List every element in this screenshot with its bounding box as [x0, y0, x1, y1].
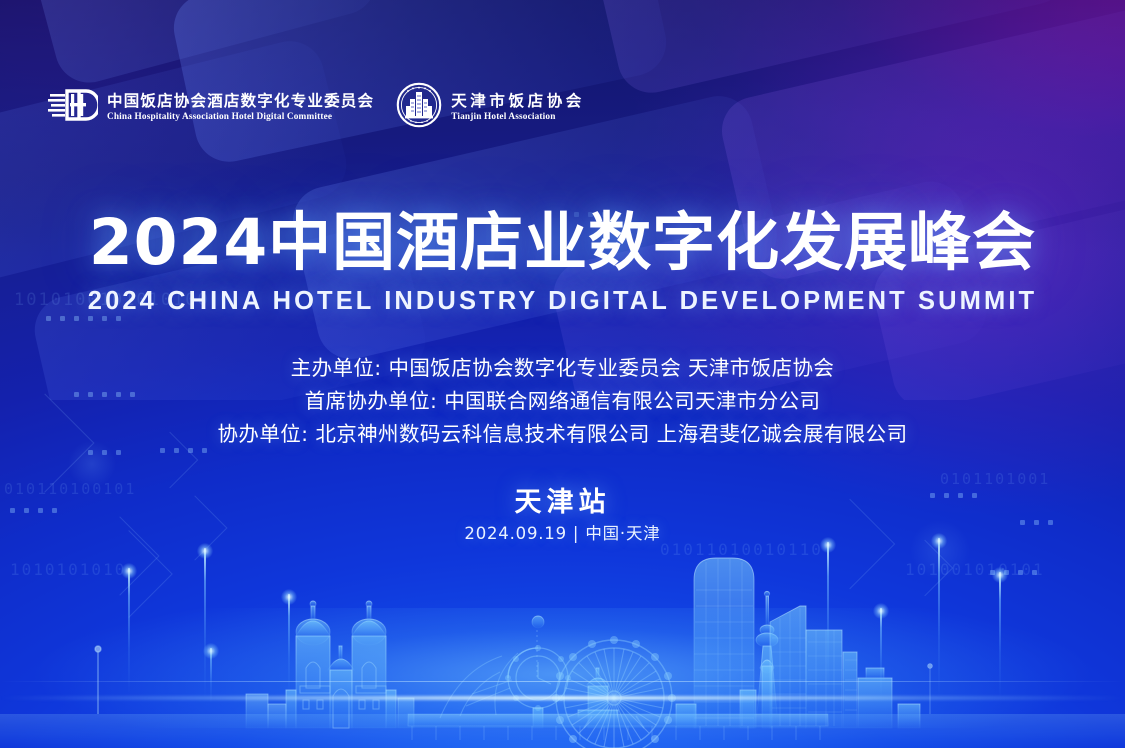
horizon-line-secondary: [0, 681, 1125, 682]
page-title-cn: 2024中国酒店业数字化发展峰会: [0, 206, 1125, 280]
page-title-en: 2024 CHINA HOTEL INDUSTRY DIGITAL DEVELO…: [0, 286, 1125, 316]
logo-cha-name-cn: 中国饭店协会酒店数字化专业委员会: [107, 92, 374, 111]
conference-poster: 1010100101010100 010110100101 1010101010…: [0, 0, 1125, 748]
logo-tha-name-cn: 天津市饭店协会: [451, 92, 585, 111]
tianjin-hotel-association-seal-icon: [396, 82, 442, 133]
dot-row-1: [46, 316, 121, 321]
background-geometric-plates: [0, 0, 1125, 400]
logo-tianjin-hotel-association: 天津市饭店协会 Tianjin Hotel Association: [396, 82, 585, 133]
station-date-location: 2024.09.19 | 中国·天津: [0, 523, 1125, 545]
organizer-line-host: 主办单位: 中国饭店协会数字化专业委员会 天津市饭店协会: [0, 352, 1125, 385]
station-block: 天津站 2024.09.19 | 中国·天津: [0, 486, 1125, 545]
logo-text-block: 中国饭店协会酒店数字化专业委员会 China Hospitality Assoc…: [107, 92, 374, 123]
cha-hotel-digital-committee-logo-icon: [48, 85, 98, 130]
horizon-glow-wide: [0, 608, 1125, 728]
organizers-block: 主办单位: 中国饭店协会数字化专业委员会 天津市饭店协会 首席协办单位: 中国联…: [0, 352, 1125, 451]
logo-cha-digital-committee: 中国饭店协会酒店数字化专业委员会 China Hospitality Assoc…: [48, 85, 374, 130]
title-block: 2024中国酒店业数字化发展峰会 2024 CHINA HOTEL INDUST…: [0, 206, 1125, 316]
logo-row: 中国饭店协会酒店数字化专业委员会 China Hospitality Assoc…: [48, 82, 585, 133]
horizon-glow-line: [0, 696, 1125, 700]
organizer-line-coorganizer: 协办单位: 北京神州数码云科信息技术有限公司 上海君斐亿诚会展有限公司: [0, 418, 1125, 451]
logo-tha-name-en: Tianjin Hotel Association: [451, 111, 585, 123]
logo-cha-name-en: China Hospitality Association Hotel Digi…: [107, 111, 374, 123]
logo-text-block: 天津市饭店协会 Tianjin Hotel Association: [451, 92, 585, 123]
station-name: 天津站: [0, 486, 1125, 520]
organizer-line-chief-coorganizer: 首席协办单位: 中国联合网络通信有限公司天津市分公司: [0, 385, 1125, 418]
